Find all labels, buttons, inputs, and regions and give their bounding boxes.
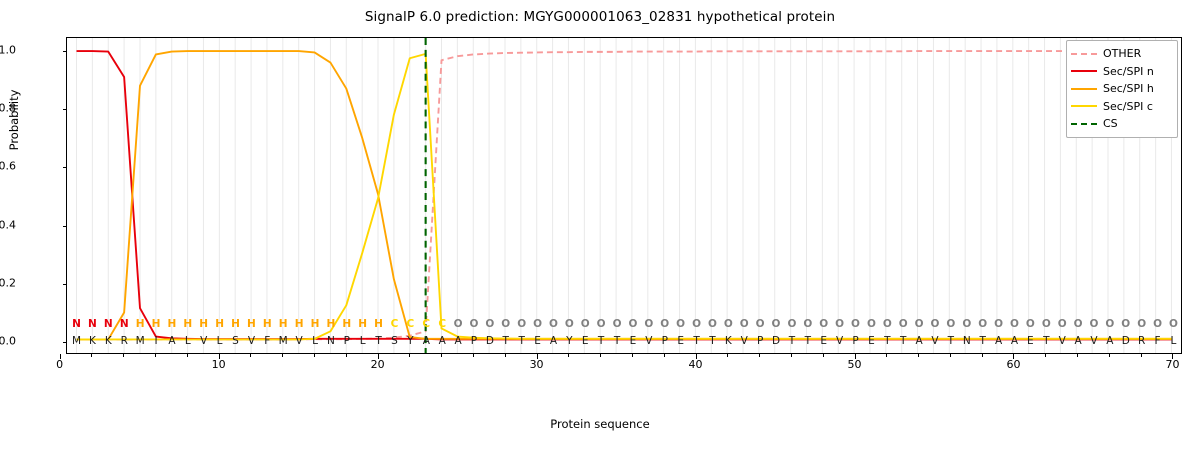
residue-label: A <box>916 335 923 347</box>
residue-label: D <box>772 335 780 347</box>
residue-label: L <box>1171 335 1177 347</box>
series-line-sec-spi-c <box>77 54 1172 340</box>
residue-label: T <box>598 335 604 347</box>
region-label: H <box>358 318 367 330</box>
region-label: H <box>183 318 192 330</box>
region-label: O <box>915 318 924 330</box>
x-minor-tick-mark <box>1045 354 1046 357</box>
y-tick-label: 0.2 <box>0 276 16 289</box>
x-minor-tick-mark <box>187 354 188 357</box>
signalp-prediction-figure: SignalP 6.0 prediction: MGYG000001063_02… <box>0 0 1200 450</box>
legend-item: OTHER <box>1071 45 1172 63</box>
residue-label: E <box>1027 335 1034 347</box>
residue-label: L <box>360 335 366 347</box>
legend: OTHERSec/SPI nSec/SPI hSec/SPI cCS <box>1066 40 1178 138</box>
x-minor-tick-mark <box>441 354 442 357</box>
region-label: O <box>533 318 542 330</box>
x-minor-tick-mark <box>823 354 824 357</box>
region-label: N <box>88 318 97 330</box>
region-label: H <box>215 318 224 330</box>
x-tick-mark <box>537 354 538 359</box>
x-minor-tick-mark <box>282 354 283 357</box>
region-label: O <box>772 318 781 330</box>
x-tick-mark <box>855 354 856 359</box>
plot-area: NMNKNKNRHMHIHAHLHVHLHSHVHFHMHVHLHNHPHLHT… <box>66 37 1182 354</box>
region-label: O <box>851 318 860 330</box>
x-minor-tick-mark <box>568 354 569 357</box>
x-minor-tick-mark <box>473 354 474 357</box>
residue-label: P <box>852 335 858 347</box>
region-label: O <box>835 318 844 330</box>
residue-label: D <box>1122 335 1130 347</box>
region-label: O <box>899 318 908 330</box>
x-minor-tick-mark <box>759 354 760 357</box>
region-label: H <box>199 318 208 330</box>
residue-label: P <box>662 335 668 347</box>
x-minor-tick-mark <box>982 354 983 357</box>
x-minor-tick-mark <box>664 354 665 357</box>
x-axis-label: Protein sequence <box>0 417 1200 431</box>
x-tick-label: 50 <box>848 358 862 371</box>
region-label: O <box>962 318 971 330</box>
region-label: O <box>1058 318 1067 330</box>
x-minor-tick-mark <box>632 354 633 357</box>
x-tick-mark <box>378 354 379 359</box>
residue-label: E <box>820 335 827 347</box>
region-label: H <box>263 318 272 330</box>
x-tick-label: 20 <box>371 358 385 371</box>
residue-label: T <box>900 335 906 347</box>
x-minor-tick-mark <box>505 354 506 357</box>
legend-item: Sec/SPI n <box>1071 63 1172 81</box>
region-label: O <box>628 318 637 330</box>
region-label: H <box>136 318 145 330</box>
x-tick-mark <box>60 354 61 359</box>
x-minor-tick-mark <box>123 354 124 357</box>
region-label: H <box>295 318 304 330</box>
residue-label: K <box>89 335 96 347</box>
region-label: O <box>708 318 717 330</box>
legend-label: Sec/SPI h <box>1103 82 1154 95</box>
series-line-sec-spi-n <box>77 51 1172 339</box>
legend-swatch-icon <box>1071 66 1097 76</box>
legend-item: CS <box>1071 115 1172 133</box>
residue-label: S <box>391 335 398 347</box>
region-label: O <box>978 318 987 330</box>
residue-label: P <box>757 335 763 347</box>
region-label: O <box>819 318 828 330</box>
x-tick-mark <box>1013 354 1014 359</box>
residue-label: S <box>232 335 239 347</box>
region-label: O <box>883 318 892 330</box>
residue-label: V <box>200 335 207 347</box>
legend-label: OTHER <box>1103 47 1141 60</box>
region-label: O <box>581 318 590 330</box>
region-label: H <box>342 318 351 330</box>
legend-label: Sec/SPI n <box>1103 65 1154 78</box>
region-label: O <box>517 318 526 330</box>
residue-label: A <box>168 335 175 347</box>
legend-label: CS <box>1103 117 1118 130</box>
region-label: O <box>724 318 733 330</box>
x-minor-tick-mark <box>950 354 951 357</box>
region-label: C <box>407 318 415 330</box>
residue-label: K <box>725 335 732 347</box>
residue-label: D <box>486 335 494 347</box>
x-minor-tick-mark <box>409 354 410 357</box>
residue-label: A <box>1106 335 1113 347</box>
residue-label: T <box>614 335 620 347</box>
residue-label: A <box>423 335 430 347</box>
residue-label: V <box>931 335 938 347</box>
series-line-other <box>77 51 1172 339</box>
residue-label: V <box>741 335 748 347</box>
x-minor-tick-mark <box>314 354 315 357</box>
region-label: O <box>740 318 749 330</box>
residue-label: A <box>1074 335 1081 347</box>
chart-title: SignalP 6.0 prediction: MGYG000001063_02… <box>0 9 1200 25</box>
data-layer <box>67 38 1181 353</box>
region-label: O <box>676 318 685 330</box>
region-label: O <box>692 318 701 330</box>
x-tick-label: 60 <box>1006 358 1020 371</box>
residue-label: V <box>248 335 255 347</box>
x-minor-tick-mark <box>1077 354 1078 357</box>
region-label: H <box>311 318 320 330</box>
residue-label: E <box>630 335 637 347</box>
y-tick-label: 1.0 <box>0 44 16 57</box>
region-label: O <box>867 318 876 330</box>
residue-label: M <box>136 335 145 347</box>
residue-label: T <box>518 335 524 347</box>
region-label: O <box>1121 318 1130 330</box>
region-label: H <box>231 318 240 330</box>
y-tick-mark <box>63 226 68 227</box>
region-label: H <box>326 318 335 330</box>
x-minor-tick-mark <box>918 354 919 357</box>
legend-item: Sec/SPI c <box>1071 98 1172 116</box>
residue-label: E <box>582 335 589 347</box>
y-tick-mark <box>63 51 68 52</box>
y-tick-label: 0.8 <box>0 102 16 115</box>
x-minor-tick-mark <box>600 354 601 357</box>
residue-label: A <box>454 335 461 347</box>
x-minor-tick-mark <box>727 354 728 357</box>
x-minor-tick-mark <box>155 354 156 357</box>
residue-label: T <box>709 335 715 347</box>
region-label: O <box>1074 318 1083 330</box>
residue-label: L <box>312 335 318 347</box>
residue-label: A <box>550 335 557 347</box>
x-tick-mark <box>1172 354 1173 359</box>
region-label: O <box>946 318 955 330</box>
residue-label: T <box>503 335 509 347</box>
y-tick-label: 0.0 <box>0 334 16 347</box>
residue-label: M <box>279 335 288 347</box>
region-label: O <box>1153 318 1162 330</box>
residue-label: T <box>789 335 795 347</box>
region-label: O <box>454 318 463 330</box>
region-label: O <box>994 318 1003 330</box>
region-label: O <box>613 318 622 330</box>
residue-label: T <box>979 335 985 347</box>
region-label: N <box>104 318 113 330</box>
residue-label: R <box>121 335 128 347</box>
residue-label: E <box>677 335 684 347</box>
x-minor-tick-mark <box>91 354 92 357</box>
residue-label: T <box>693 335 699 347</box>
y-tick-mark <box>63 167 68 168</box>
legend-swatch-icon <box>1071 119 1097 129</box>
residue-label: V <box>1090 335 1097 347</box>
region-label: O <box>501 318 510 330</box>
x-tick-label: 10 <box>212 358 226 371</box>
series-line-sec-spi-h <box>77 51 1172 339</box>
y-tick-mark <box>63 342 68 343</box>
residue-label: A <box>439 335 446 347</box>
residue-label: F <box>1155 335 1161 347</box>
region-label: O <box>787 318 796 330</box>
region-label: N <box>72 318 81 330</box>
residue-label: V <box>645 335 652 347</box>
residue-label: I <box>154 335 157 347</box>
y-tick-label: 0.4 <box>0 218 16 231</box>
residue-label: E <box>534 335 541 347</box>
x-minor-tick-mark <box>346 354 347 357</box>
residue-label: M <box>72 335 81 347</box>
residue-label: F <box>264 335 270 347</box>
region-label: H <box>374 318 383 330</box>
region-label: O <box>1090 318 1099 330</box>
region-label: O <box>1105 318 1114 330</box>
region-label: O <box>597 318 606 330</box>
region-label: O <box>1042 318 1051 330</box>
residue-label: A <box>995 335 1002 347</box>
x-minor-tick-mark <box>791 354 792 357</box>
region-label: H <box>152 318 161 330</box>
residue-label: T <box>948 335 954 347</box>
residue-label: P <box>344 335 350 347</box>
region-label: O <box>1169 318 1178 330</box>
legend-swatch-icon <box>1071 49 1097 59</box>
region-label: C <box>422 318 430 330</box>
legend-swatch-icon <box>1071 101 1097 111</box>
region-label: O <box>549 318 558 330</box>
x-tick-label: 0 <box>56 358 63 371</box>
y-tick-label: 0.6 <box>0 160 16 173</box>
region-label: N <box>120 318 129 330</box>
residue-label: L <box>185 335 191 347</box>
legend-item: Sec/SPI h <box>1071 80 1172 98</box>
legend-swatch-icon <box>1071 84 1097 94</box>
residue-label: K <box>105 335 112 347</box>
x-tick-mark <box>219 354 220 359</box>
y-tick-mark <box>63 109 68 110</box>
residue-label: N <box>963 335 971 347</box>
x-tick-mark <box>696 354 697 359</box>
region-label: C <box>391 318 399 330</box>
residue-label: V <box>836 335 843 347</box>
region-label: O <box>931 318 940 330</box>
region-label: O <box>565 318 574 330</box>
region-label: O <box>1026 318 1035 330</box>
x-minor-tick-mark <box>250 354 251 357</box>
residue-label: R <box>1138 335 1145 347</box>
legend-label: Sec/SPI c <box>1103 100 1153 113</box>
region-label: O <box>644 318 653 330</box>
residue-label: A <box>1011 335 1018 347</box>
region-label: O <box>470 318 479 330</box>
region-label: H <box>279 318 288 330</box>
residue-label: V <box>296 335 303 347</box>
residue-label: T <box>805 335 811 347</box>
region-label: O <box>1010 318 1019 330</box>
region-label: H <box>168 318 177 330</box>
x-tick-label: 40 <box>689 358 703 371</box>
residue-label: E <box>868 335 875 347</box>
x-tick-label: 30 <box>530 358 544 371</box>
residue-label: P <box>471 335 477 347</box>
x-minor-tick-mark <box>1109 354 1110 357</box>
region-label: O <box>660 318 669 330</box>
residue-label: Y <box>566 335 572 347</box>
x-minor-tick-mark <box>886 354 887 357</box>
residue-label: T <box>375 335 381 347</box>
residue-label: T <box>884 335 890 347</box>
region-label: O <box>1137 318 1146 330</box>
region-label: O <box>756 318 765 330</box>
region-label: H <box>247 318 256 330</box>
residue-label: N <box>327 335 335 347</box>
y-tick-mark <box>63 284 68 285</box>
residue-label: T <box>1043 335 1049 347</box>
x-minor-tick-mark <box>1141 354 1142 357</box>
region-label: O <box>485 318 494 330</box>
region-label: O <box>803 318 812 330</box>
residue-label: V <box>1059 335 1066 347</box>
residue-label: Y <box>407 335 413 347</box>
region-label: C <box>438 318 446 330</box>
x-tick-label: 70 <box>1165 358 1179 371</box>
residue-label: L <box>217 335 223 347</box>
